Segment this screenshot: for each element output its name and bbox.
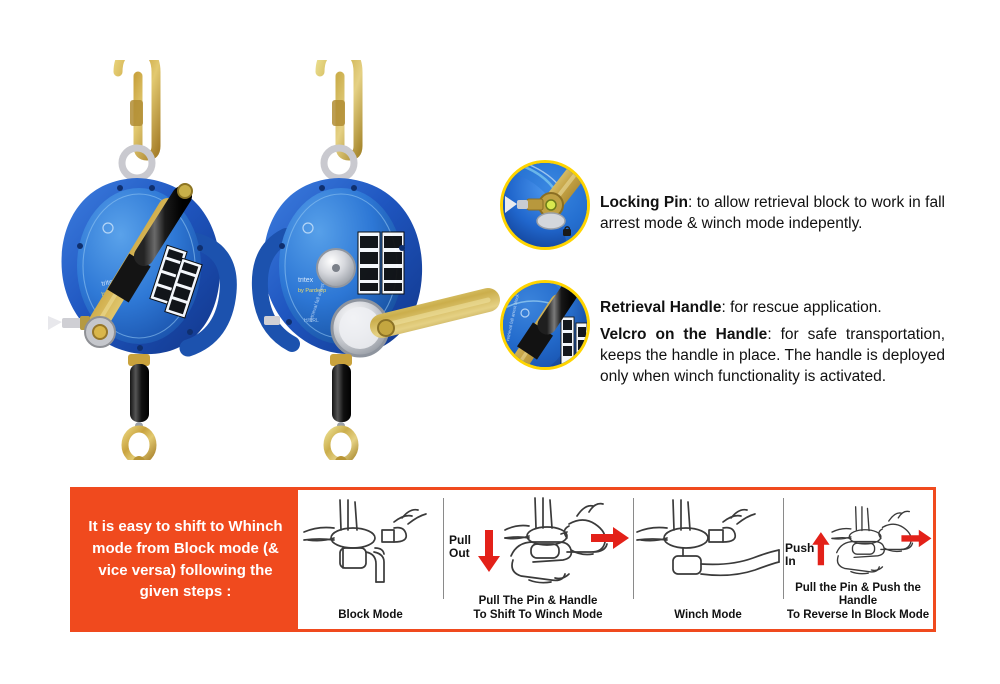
locking-pin-part bbox=[48, 316, 90, 330]
step-block-mode: Block Mode bbox=[298, 490, 443, 629]
callout-body-retrieval-handle: : for rescue application. bbox=[721, 299, 881, 316]
product-left-svg: tritex by Pardeep retrieval fall arrest … bbox=[40, 60, 280, 460]
locking-pin-part bbox=[264, 316, 280, 325]
panel-headline: It is easy to shift to Whinch mode from … bbox=[73, 490, 298, 629]
step-block-mode-art bbox=[298, 494, 443, 586]
callout-locking-pin bbox=[500, 160, 590, 250]
top-carabiner-icon bbox=[118, 60, 156, 178]
arrow-right-icon bbox=[591, 527, 629, 549]
arrow-down-icon bbox=[478, 530, 500, 572]
product-image-block-mode: tritex by Pardeep retrieval fall arrest … bbox=[40, 60, 280, 460]
callout-title-velcro: Velcro on the Handle bbox=[600, 326, 767, 343]
pull-out-label: PullOut bbox=[449, 534, 471, 559]
product-image-winch-mode: tritex by Pardeep retrieval fall arrest … bbox=[250, 60, 510, 460]
cable-and-hook bbox=[115, 354, 164, 460]
product-right-svg: tritex by Pardeep retrieval fall arrest … bbox=[250, 60, 510, 460]
callout-title-retrieval-handle: Retrieval Handle bbox=[600, 299, 721, 316]
step-push-handle: PushIn bbox=[783, 490, 933, 629]
velcro-wrap bbox=[527, 329, 543, 353]
panel-steps: Block Mode PullOut bbox=[298, 490, 933, 629]
step-winch-mode-caption: Winch Mode bbox=[674, 609, 742, 623]
step-push-handle-art bbox=[783, 494, 933, 586]
step-pull-pin: PullOut bbox=[443, 490, 633, 629]
callout-title-locking-pin: Locking Pin bbox=[600, 194, 688, 211]
arrow-right-icon bbox=[901, 530, 931, 547]
callout-velcro-handle-art: retrieval fall arrest block bbox=[503, 283, 587, 367]
step-block-mode-caption: Block Mode bbox=[338, 609, 403, 623]
product-diagram-page: tritex by Pardeep retrieval fall arrest … bbox=[0, 0, 1000, 684]
arrow-up-icon bbox=[812, 532, 829, 565]
svg-text:tritex: tritex bbox=[298, 277, 314, 284]
step-winch-mode-art bbox=[633, 494, 783, 586]
callout-text-locking-pin: Locking Pin: to allow retrieval block to… bbox=[600, 192, 945, 235]
callout-text-retrieval-handle: Retrieval Handle: for rescue application… bbox=[600, 297, 945, 318]
callout-locking-pin-art bbox=[503, 163, 587, 247]
callout-text-velcro: Velcro on the Handle: for safe transport… bbox=[600, 324, 945, 388]
mode-shift-instruction-panel: It is easy to shift to Whinch mode from … bbox=[70, 487, 936, 632]
step-pull-pin-caption: Pull The Pin & HandleTo Shift To Winch M… bbox=[473, 595, 602, 623]
svg-text:H/SRL: H/SRL bbox=[304, 318, 319, 324]
top-carabiner-icon bbox=[320, 60, 358, 178]
cable-and-hook bbox=[317, 354, 366, 460]
push-in-label: PushIn bbox=[785, 542, 814, 567]
step-pull-pin-art bbox=[443, 494, 633, 586]
step-winch-mode: Winch Mode bbox=[633, 490, 783, 629]
callout-velcro-handle: retrieval fall arrest block bbox=[500, 280, 590, 370]
step-push-handle-caption: Pull the Pin & Push the HandleTo Reverse… bbox=[783, 582, 933, 623]
